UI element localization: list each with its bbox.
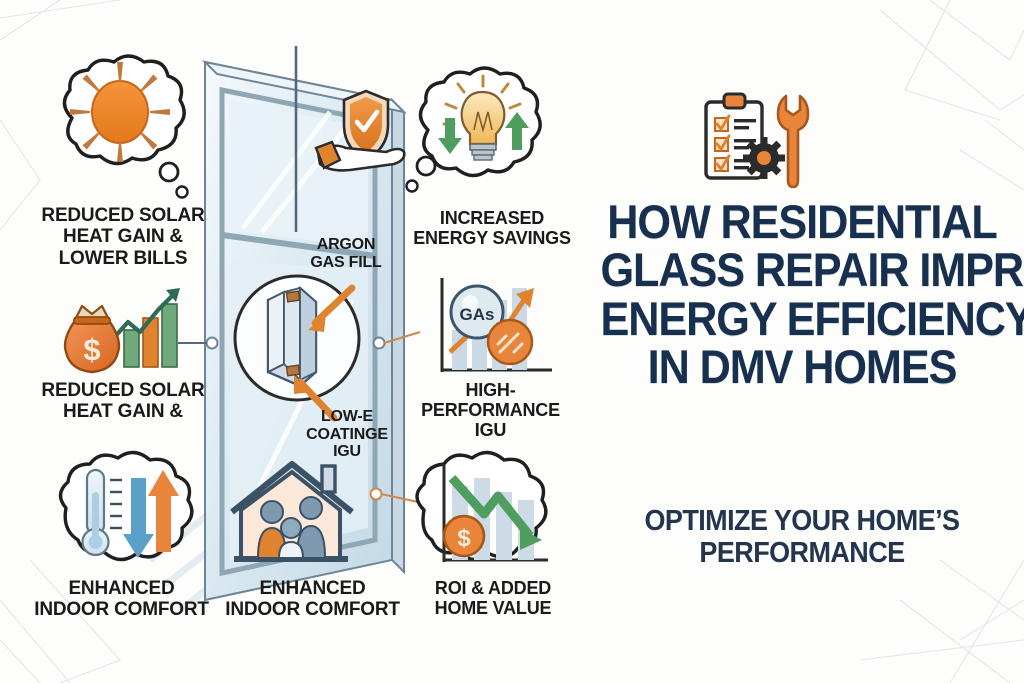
benefit-label-line: HOME VALUE	[418, 598, 568, 618]
benefit-label-line: ENHANCED	[205, 578, 420, 599]
page-title: HOW RESIDENTIAL GLASS REPAIR IMPROVES EN…	[601, 198, 1004, 392]
connector-dot-left	[207, 338, 218, 349]
callout-line: IGU	[303, 443, 391, 461]
benefit-label-roi: ROI & ADDED HOME VALUE	[418, 578, 568, 618]
callout-lowe-coating-igu: LOW-E COATINGE IGU	[303, 408, 391, 461]
title-line: GLASS REPAIR IMPROVES	[601, 246, 1004, 294]
gas-magnifier-label: GAs	[460, 305, 495, 324]
benefit-label-solar-top: REDUCED SOLAR HEAT GAIN & LOWER BILLS	[18, 205, 228, 269]
benefit-label-line: ENERGY SAVINGS	[412, 228, 572, 248]
subtitle-line: PERFORMANCE	[619, 537, 985, 569]
subtitle-line: OPTIMIZE YOUR HOME’S	[619, 505, 985, 537]
svg-text:$: $	[457, 525, 471, 552]
svg-text:$: $	[83, 332, 100, 367]
benefit-label-solar-mid: REDUCED SOLAR HEAT GAIN &	[18, 380, 228, 423]
thermometer-arrows-cloud-icon	[60, 452, 191, 559]
declining-chart-dollar-coin-icon: $	[417, 452, 548, 562]
callout-line: COATINGE	[303, 426, 391, 444]
benefit-label-high-performance-igu: HIGH- PERFORMANCE IGU	[408, 380, 573, 440]
benefit-label-comfort-center: ENHANCED INDOOR COMFORT	[205, 578, 420, 621]
benefit-label-line: ROI & ADDED	[418, 578, 568, 598]
title-line: ENERGY EFFICIENCY	[601, 295, 1004, 343]
clipboard-wrench-gear-icon	[698, 88, 818, 193]
title-panel: HOW RESIDENTIAL GLASS REPAIR IMPROVES EN…	[575, 0, 1024, 683]
callout-line: GAS FILL	[300, 254, 392, 272]
title-line: IN DMV HOMES	[601, 343, 1004, 391]
benefit-label-line: INCREASED	[412, 208, 572, 228]
wrench-icon	[778, 96, 808, 187]
benefit-label-line: ENHANCED	[14, 578, 229, 599]
benefit-label-line: REDUCED SOLAR	[18, 380, 228, 401]
benefit-label-line: HEAT GAIN &	[18, 226, 228, 247]
benefit-label-line: HEAT GAIN &	[18, 401, 228, 422]
illustration-panel: $	[0, 0, 580, 683]
gas-magnifier-growth-chart-icon: GAs	[442, 278, 552, 372]
infographic-canvas: $	[0, 0, 1024, 683]
benefit-label-line: PERFORMANCE IGU	[408, 400, 573, 440]
benefit-label-comfort-left: ENHANCED INDOOR COMFORT	[14, 578, 229, 621]
sun-thought-bubble-icon	[64, 56, 187, 198]
money-bag-growth-chart-icon: $	[65, 288, 180, 372]
benefit-label-line: LOWER BILLS	[18, 248, 228, 269]
benefit-label-line: INDOOR COMFORT	[14, 599, 229, 620]
connector-dot-right-lower	[371, 489, 382, 500]
callout-line: ARGON	[300, 236, 392, 254]
page-subtitle: OPTIMIZE YOUR HOME’S PERFORMANCE	[619, 505, 985, 570]
callout-line: LOW-E	[303, 408, 391, 426]
lightbulb-arrows-thought-bubble-icon	[407, 68, 541, 192]
benefit-label-energy-savings: INCREASED ENERGY SAVINGS	[412, 208, 572, 248]
callout-argon-gas-fill: ARGON GAS FILL	[300, 236, 392, 271]
title-line: HOW RESIDENTIAL	[601, 198, 1004, 246]
benefit-label-line: HIGH-	[408, 380, 573, 400]
benefit-label-line: REDUCED SOLAR	[18, 205, 228, 226]
connector-dot-right	[374, 338, 385, 349]
gear-icon	[743, 137, 785, 179]
benefit-label-line: INDOOR COMFORT	[205, 599, 420, 620]
